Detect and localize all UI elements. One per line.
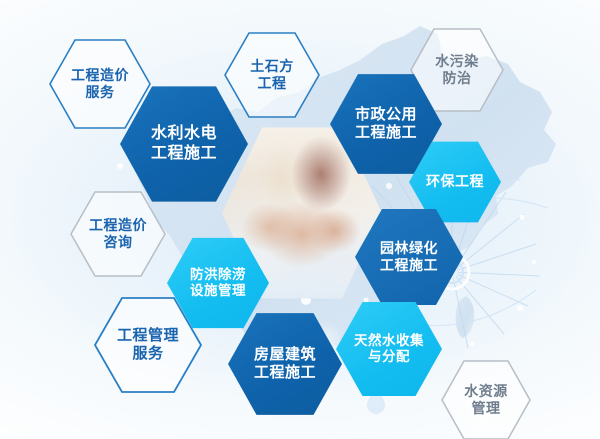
hexagon-engineering-management-service[interactable]: 工程管理 服务 (93, 296, 203, 394)
hexagon-label: 市政公用 工程施工 (355, 106, 417, 143)
hexagon-label: 水污染 防治 (435, 53, 479, 87)
hexagon-label: 园林绿化 工程施工 (380, 240, 438, 274)
infographic-canvas: 工程造价 服务 土石方 工程 水污染 防治 市政公用 工程施工 水利水电 工程施… (0, 0, 600, 439)
hexagon-building-construction-works[interactable]: 房屋建筑 工程施工 (228, 311, 342, 417)
hexagon-engineering-cost-consulting[interactable]: 工程造价 咨询 (69, 190, 167, 278)
hexagon-label: 房屋建筑 工程施工 (254, 346, 316, 383)
hexagon-label: 水利水电 工程施工 (151, 124, 217, 163)
hexagon-label: 工程管理 服务 (117, 327, 179, 364)
hexagon-label: 环保工程 (426, 173, 484, 190)
hexagon-label: 工程造价 服务 (71, 67, 129, 101)
hexagon-label: 天然水收集 与分配 (354, 333, 424, 366)
hexagon-water-resource-management[interactable]: 水资源 管理 (440, 359, 532, 439)
hexagon-label: 水资源 管理 (464, 383, 508, 417)
hexagon-earth-rock-works[interactable]: 土石方 工程 (223, 31, 321, 119)
hexagon-label: 土石方 工程 (250, 58, 294, 92)
hexagon-label: 工程造价 咨询 (89, 217, 147, 251)
hexagon-label: 防洪除涝 设施管理 (190, 267, 246, 300)
hexagon-natural-water-collection-distribution[interactable]: 天然水收集 与分配 (336, 300, 442, 398)
